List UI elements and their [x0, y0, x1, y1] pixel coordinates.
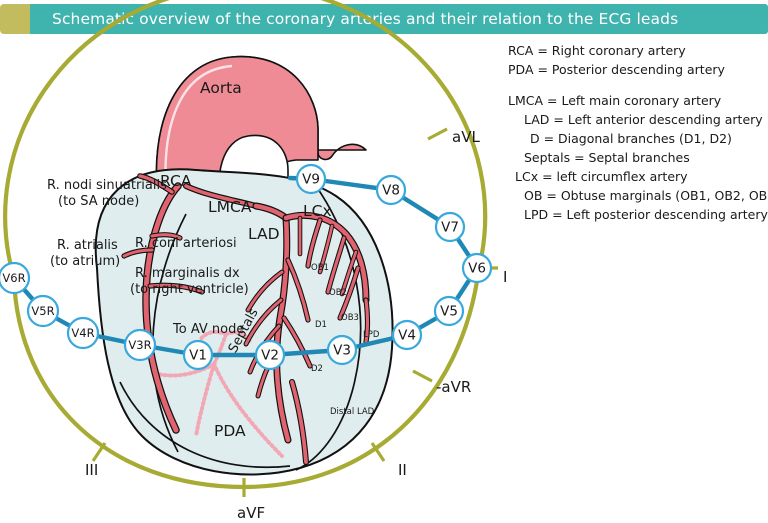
- label-lad: LAD: [248, 225, 280, 244]
- ecg-lead-label: V5: [440, 304, 458, 320]
- legend-abbrev-row-1: PDA = Posterior descending artery: [508, 60, 766, 79]
- label-to-right-ventricle: (to right ventricle): [130, 282, 249, 298]
- ecg-lead-label: V7: [441, 220, 459, 236]
- limb-lead-neg-aVR: -aVR: [436, 378, 471, 397]
- label-r-marginalis-dx: R. marginalis dx: [135, 266, 240, 282]
- legend-abbrev2-row-6: LPD = Left posterior descending artery: [508, 205, 766, 224]
- label-distal-lad: Distal LAD: [330, 407, 374, 418]
- legend-abbrev2-row-3: Septals = Septal branches: [508, 148, 766, 167]
- label-aorta: Aorta: [200, 79, 242, 98]
- ecg-lead-v2[interactable]: V2: [256, 341, 284, 369]
- ecg-lead-label: V1: [189, 348, 207, 364]
- ecg-lead-label: V6: [468, 261, 486, 277]
- ecg-lead-v3r[interactable]: V3R: [125, 330, 155, 360]
- legend-spacer: [508, 79, 766, 91]
- legend-abbrev2-row-0: LMCA = Left main coronary artery: [508, 91, 766, 110]
- label-ob1: OB1: [311, 263, 329, 274]
- legend-abbrev2-row-2: D = Diagonal branches (D1, D2): [508, 129, 766, 148]
- ecg-lead-v9[interactable]: V9: [297, 165, 325, 193]
- label-ob3: OB3: [341, 313, 359, 324]
- limb-lead-II: II: [398, 461, 407, 480]
- label-to-sa-node: (to SA node): [58, 194, 139, 210]
- ecg-lead-v8[interactable]: V8: [377, 176, 405, 204]
- legend-abbrev2-row-5: OB = Obtuse marginals (OB1, OB2, OB3): [508, 186, 766, 205]
- label-r-atrialis: R. atrialis: [57, 238, 118, 254]
- ecg-lead-v3[interactable]: V3: [328, 336, 356, 364]
- legend-abbrev2-row-4: LCx = left circumflex artery: [508, 167, 766, 186]
- label-d2: D2: [311, 364, 323, 375]
- tick-avl: [428, 129, 447, 139]
- ecg-lead-label: V5R: [31, 304, 54, 318]
- label-d1: D1: [315, 320, 327, 331]
- ecg-lead-v4[interactable]: V4: [393, 321, 421, 349]
- ecg-lead-v5r[interactable]: V5R: [28, 296, 58, 326]
- label-ob2: OB2: [329, 288, 347, 299]
- legend-abbrev-row-0: RCA = Right coronary artery: [508, 41, 766, 60]
- limb-lead-I: I: [503, 268, 507, 287]
- label-lcx: LCx: [303, 202, 332, 221]
- ecg-lead-v4r[interactable]: V4R: [68, 318, 98, 348]
- ecg-lead-v1[interactable]: V1: [184, 341, 212, 369]
- ecg-lead-v6r[interactable]: V6R: [0, 263, 29, 293]
- limb-lead-aVL: aVL: [452, 128, 480, 147]
- tick-navr: [413, 371, 432, 381]
- label-lmca: LMCA: [208, 198, 251, 217]
- legend-abbrev2-row-1: LAD = Left anterior descending artery: [508, 110, 766, 129]
- ecg-lead-label: V8: [382, 183, 400, 199]
- ecg-lead-v6[interactable]: V6: [463, 254, 491, 282]
- ecg-lead-v5[interactable]: V5: [435, 297, 463, 325]
- ecg-lead-v7[interactable]: V7: [436, 213, 464, 241]
- ecg-lead-label: V9: [302, 172, 320, 188]
- ecg-lead-label: V6R: [2, 271, 25, 285]
- label-r-nodi-sinuatrialis: R. nodi sinuatrialis: [47, 178, 167, 194]
- ecg-lead-label: V3R: [128, 338, 151, 352]
- label-lpd: LPD: [363, 330, 379, 341]
- limb-lead-aVF: aVF: [237, 504, 265, 523]
- label-r-coni-arteriosi: R. coni arteriosi: [135, 236, 237, 252]
- ecg-lead-label: V4R: [71, 326, 94, 340]
- label-pda: PDA: [214, 422, 246, 441]
- limb-lead-III: III: [85, 461, 98, 480]
- ecg-lead-label: V2: [261, 348, 279, 364]
- legend-panel: RCA = Right coronary arteryPDA = Posteri…: [508, 41, 766, 224]
- label-to-atrium: (to atrium): [50, 254, 120, 270]
- ecg-lead-label: V4: [398, 328, 416, 344]
- ecg-lead-label: V3: [333, 343, 351, 359]
